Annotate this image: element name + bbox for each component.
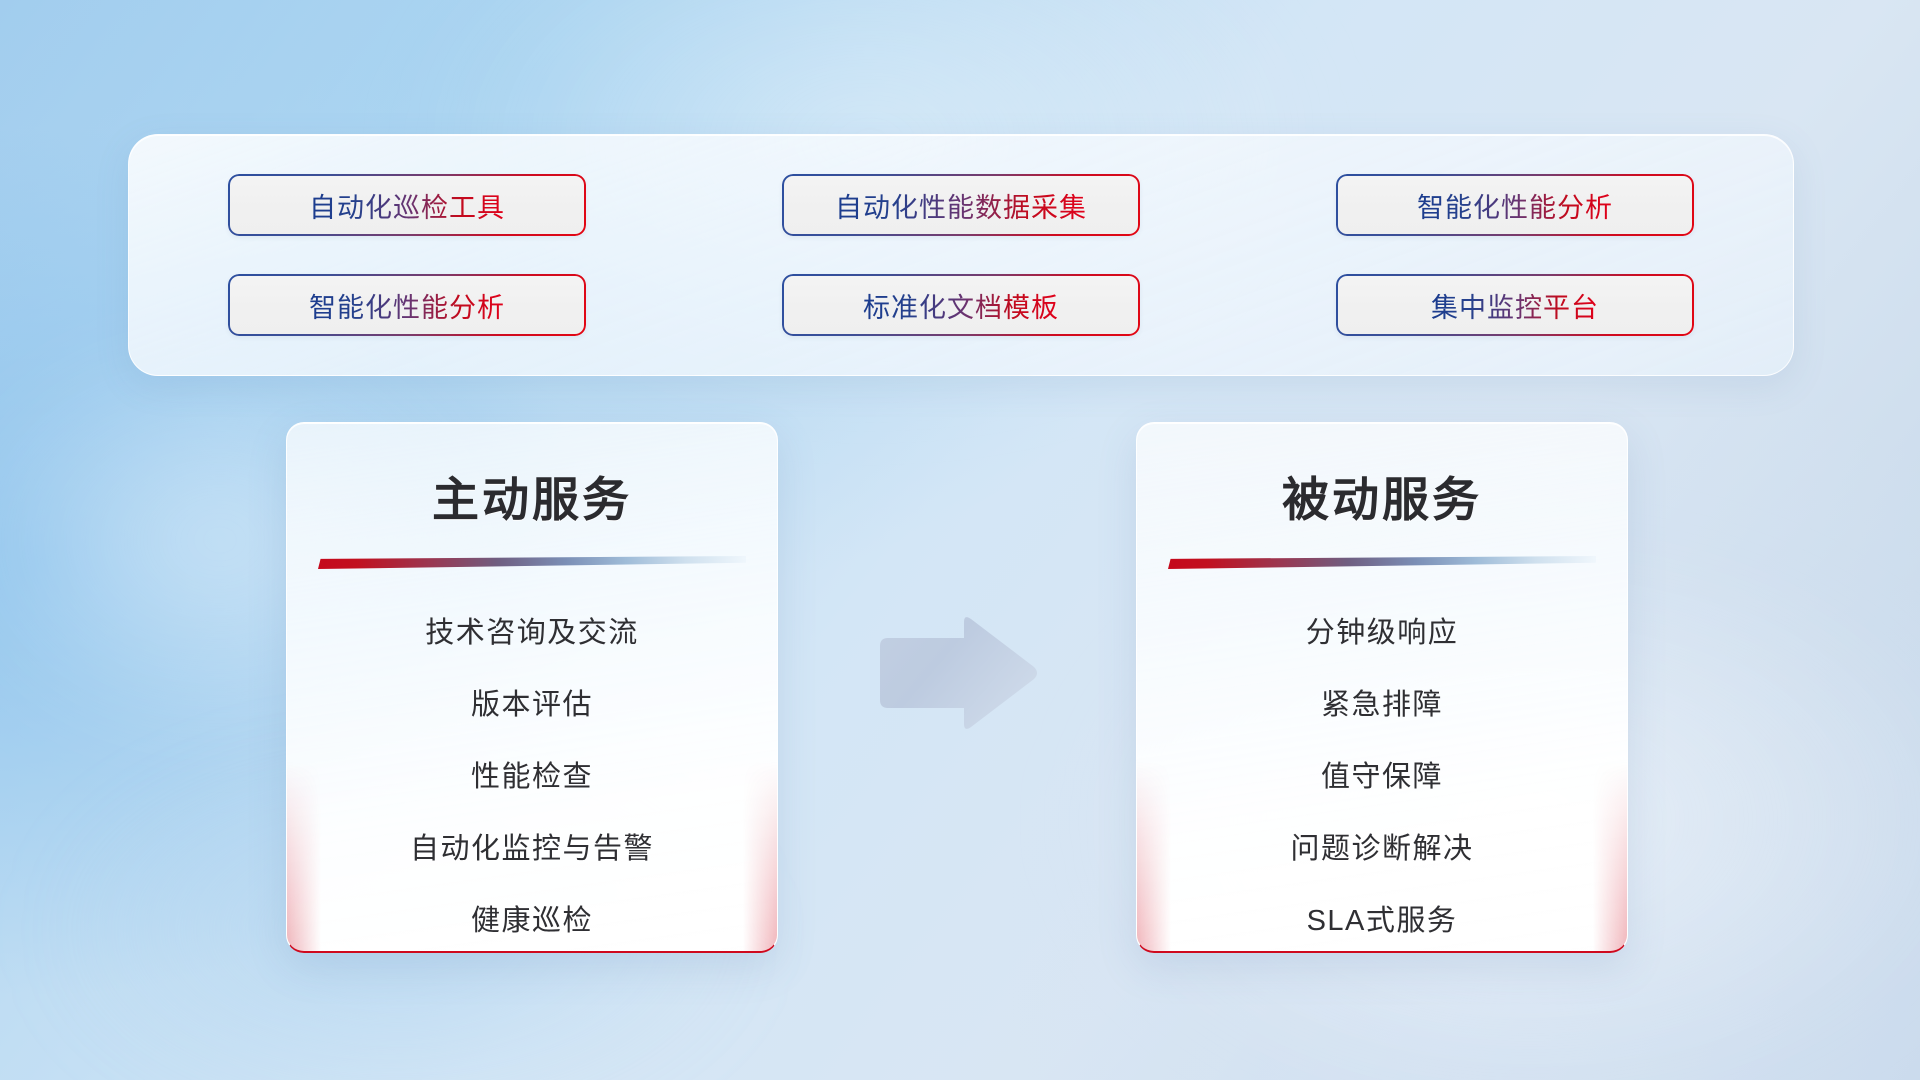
capability-pill-1[interactable]: 自动化巡检工具 <box>228 174 586 236</box>
list-item: 紧急排障 <box>1321 681 1443 723</box>
list-item: 自动化监控与告警 <box>410 825 654 867</box>
capability-pill-grid: 自动化巡检工具 自动化性能数据采集 智能化性能分析 智能化性能分析 标准化文档模… <box>228 174 1694 336</box>
card-divider <box>1168 556 1596 569</box>
capability-pill-label: 智能化性能分析 <box>309 286 505 325</box>
divider-wedge-shape <box>1168 556 1596 569</box>
capability-pill-3[interactable]: 智能化性能分析 <box>1336 174 1694 236</box>
capability-pill-label: 智能化性能分析 <box>1417 186 1613 225</box>
reactive-service-list: 分钟级响应 紧急排障 值守保障 问题诊断解决 SLA式服务 <box>1137 609 1627 939</box>
list-item: 健康巡检 <box>471 897 593 939</box>
capability-pill-2[interactable]: 自动化性能数据采集 <box>782 174 1140 236</box>
card-divider <box>318 556 746 569</box>
capability-panel: 自动化巡检工具 自动化性能数据采集 智能化性能分析 智能化性能分析 标准化文档模… <box>128 134 1794 376</box>
list-item: 问题诊断解决 <box>1290 825 1473 867</box>
capability-pill-label: 自动化巡检工具 <box>309 186 505 225</box>
list-item: 分钟级响应 <box>1306 609 1459 651</box>
list-item: 性能检查 <box>471 753 593 795</box>
list-item: SLA式服务 <box>1307 897 1458 939</box>
divider-wedge-shape <box>318 556 746 569</box>
card-title: 被动服务 <box>1137 461 1627 530</box>
reactive-service-card: 被动服务 分钟级响应 紧急排障 值守保障 问题诊断解决 SLA式服务 <box>1136 422 1628 953</box>
proactive-service-card: 主动服务 技术咨询及交流 版本评估 性能检查 自动化监控与告警 健康巡检 <box>286 422 778 953</box>
list-item: 技术咨询及交流 <box>425 609 639 651</box>
list-item: 值守保障 <box>1321 753 1443 795</box>
capability-pill-6[interactable]: 集中监控平台 <box>1336 274 1694 336</box>
proactive-service-list: 技术咨询及交流 版本评估 性能检查 自动化监控与告警 健康巡检 <box>287 609 777 939</box>
capability-pill-5[interactable]: 标准化文档模板 <box>782 274 1140 336</box>
card-title: 主动服务 <box>287 461 777 530</box>
capability-pill-4[interactable]: 智能化性能分析 <box>228 274 586 336</box>
capability-pill-label: 标准化文档模板 <box>863 286 1059 325</box>
list-item: 版本评估 <box>471 681 593 723</box>
capability-pill-label: 自动化性能数据采集 <box>835 186 1087 225</box>
capability-pill-label: 集中监控平台 <box>1431 286 1599 325</box>
flow-arrow-right-icon <box>872 612 1040 734</box>
infographic-canvas: 自动化巡检工具 自动化性能数据采集 智能化性能分析 智能化性能分析 标准化文档模… <box>0 0 1920 1080</box>
